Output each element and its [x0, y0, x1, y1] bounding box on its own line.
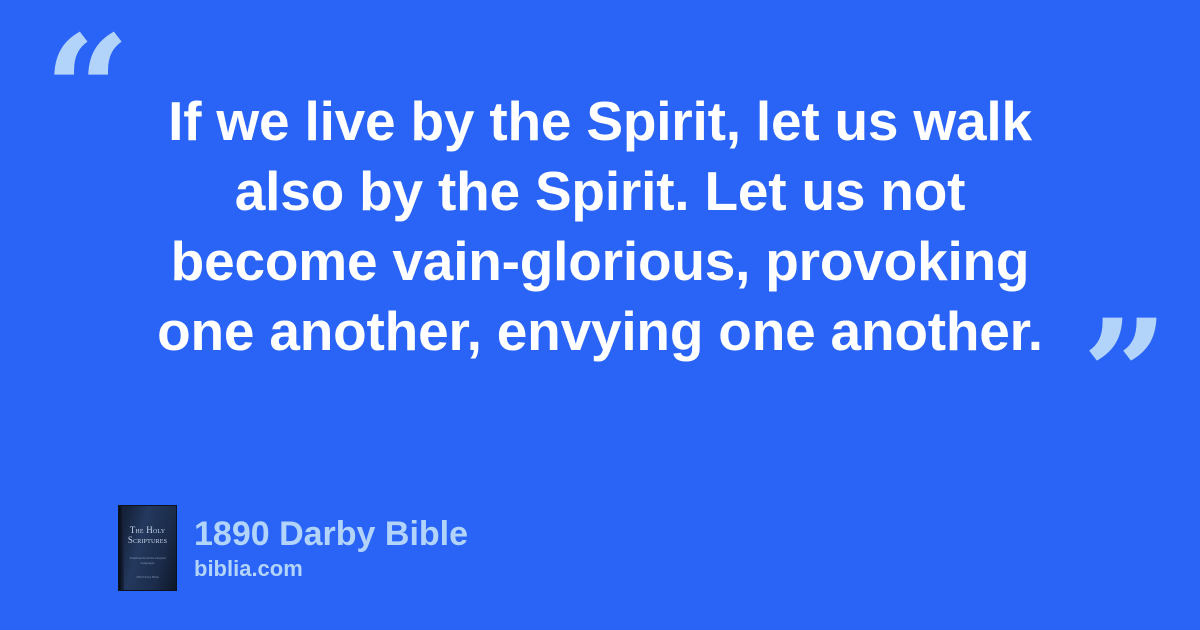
book-cover-footer: 1890 Darby Bible — [125, 575, 171, 580]
attribution: The Holy Scriptures Translated from the … — [118, 505, 468, 591]
source-site-link[interactable]: biblia.com — [194, 556, 468, 582]
quote-line: If we live by the Spirit, let us walk — [60, 86, 1140, 156]
quote-card: “ If we live by the Spirit, let us walk … — [0, 0, 1200, 630]
quote-line: also by the Spirit. Let us not — [60, 156, 1140, 226]
closing-quotation-mark-icon: ” — [1082, 300, 1168, 450]
attribution-text: 1890 Darby Bible biblia.com — [194, 514, 468, 582]
book-cover-subtitle: Translated from the Original Languages — [125, 556, 171, 566]
book-cover-title: The Holy Scriptures — [122, 525, 174, 545]
quote-text-block: If we live by the Spirit, let us walk al… — [60, 86, 1140, 366]
quote-line: become vain-glorious, provoking — [60, 226, 1140, 296]
source-title: 1890 Darby Bible — [194, 514, 468, 554]
quote-line: one another, envying one another. — [60, 296, 1140, 366]
book-cover-icon: The Holy Scriptures Translated from the … — [118, 505, 177, 591]
